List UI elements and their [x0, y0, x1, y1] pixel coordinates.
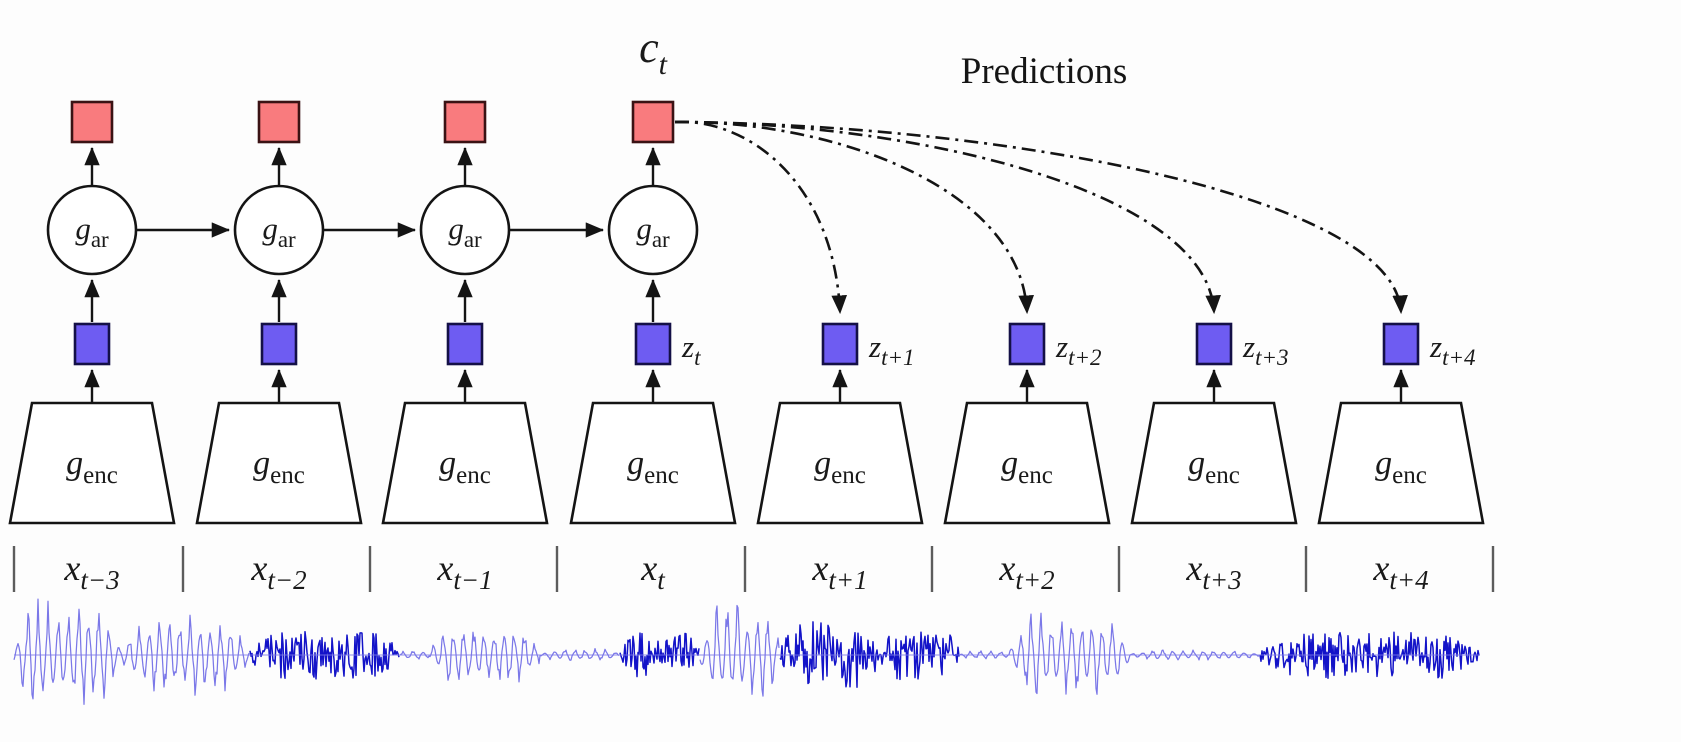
prediction-arrow-4	[675, 122, 1401, 312]
timestep-column-4: genczt+1	[758, 324, 922, 523]
encoder-label-subscript: enc	[1205, 462, 1240, 489]
ar-label-base: g	[448, 211, 464, 246]
encoder-label-base: g	[1375, 445, 1392, 482]
encoder-label-subscript: enc	[456, 462, 491, 489]
figure-canvas: gencgarxt−3gencgarxt−2gencgarxt−1gencztg…	[0, 0, 1681, 742]
timestep-column-7: genczt+4	[1319, 324, 1483, 523]
timestep-label-base: x	[436, 548, 453, 588]
context-square	[633, 102, 673, 142]
latent-label: zt+4	[1429, 329, 1476, 370]
latent-square	[75, 324, 109, 364]
timestep-label-subscript: t−2	[267, 565, 306, 595]
encoder-label-base: g	[814, 445, 831, 482]
ar-label-subscript: ar	[464, 227, 482, 252]
timestep-label-subscript: t+4	[1389, 565, 1428, 595]
timestep-column-2: gencgar	[383, 102, 547, 523]
latent-label-base: z	[868, 329, 881, 364]
timestep-column-5: genczt+2	[945, 324, 1109, 523]
context-square	[259, 102, 299, 142]
timestep-label-subscript: t	[657, 565, 666, 595]
encoder-label-base: g	[253, 445, 270, 482]
encoder-label-base: g	[627, 445, 644, 482]
prediction-arrow-2	[675, 122, 1027, 312]
timestep-column-1: gencgar	[197, 102, 361, 523]
timestep-column-0: gencgar	[10, 102, 174, 523]
waveform-light-segment	[700, 606, 779, 697]
latent-square	[1010, 324, 1044, 364]
latent-square	[823, 324, 857, 364]
latent-square	[448, 324, 482, 364]
encoder-label-subscript: enc	[1018, 462, 1053, 489]
latent-square	[636, 324, 670, 364]
context-square	[72, 102, 112, 142]
encoder-label-subscript: enc	[83, 462, 118, 489]
prediction-arrow-1	[675, 122, 840, 312]
ct-base: c	[639, 23, 659, 72]
timestep-label-base: x	[63, 548, 80, 588]
timestep-label-base: x	[1372, 548, 1389, 588]
diagram-body: gencgarxt−3gencgarxt−2gencgarxt−1gencztg…	[10, 102, 1493, 595]
ar-label-base: g	[636, 211, 652, 246]
predictions-label: Predictions	[961, 51, 1127, 92]
latent-label-base: z	[1055, 329, 1068, 364]
prediction-arrows	[675, 122, 1401, 312]
encoder-label-base: g	[1188, 445, 1205, 482]
encoder-label-subscript: enc	[644, 462, 679, 489]
encoder-label-subscript: enc	[1392, 462, 1427, 489]
cpc-architecture-diagram: gencgarxt−3gencgarxt−2gencgarxt−1gencztg…	[0, 0, 1681, 742]
context-vector-label: ct	[639, 23, 668, 81]
timestep-label: xt−2	[250, 548, 306, 595]
waveform-light-segment	[14, 599, 249, 704]
timestep-label: xt+3	[1185, 548, 1241, 595]
encoder-label-base: g	[439, 445, 456, 482]
timestep-label-subscript: t+1	[828, 565, 867, 595]
waveform-light-segment	[400, 632, 619, 682]
timestep-label-base: x	[1185, 548, 1202, 588]
latent-square	[262, 324, 296, 364]
latent-label: zt	[681, 329, 701, 370]
timestep-label-subscript: t+3	[1202, 565, 1241, 595]
timestep-label-base: x	[998, 548, 1015, 588]
timestep-label-base: x	[250, 548, 267, 588]
timestep-label-subscript: t+2	[1015, 565, 1054, 595]
ar-label-subscript: ar	[652, 227, 670, 252]
prediction-arrow-3	[675, 122, 1214, 312]
latent-label-subscript: t	[694, 345, 701, 370]
encoder-label-base: g	[66, 445, 83, 482]
latent-label-base: z	[681, 329, 694, 364]
ct-subscript: t	[659, 48, 668, 81]
latent-label-subscript: t+3	[1255, 345, 1288, 370]
waveform-light-segment	[960, 613, 1259, 694]
encoder-label-subscript: enc	[270, 462, 305, 489]
ar-label-subscript: ar	[91, 227, 109, 252]
timestep-label: xt+2	[998, 548, 1054, 595]
timestep-label-subscript: t−1	[453, 565, 492, 595]
context-square	[445, 102, 485, 142]
ar-label-base: g	[262, 211, 278, 246]
ar-label-base: g	[75, 211, 91, 246]
latent-square	[1384, 324, 1418, 364]
encoder-label-base: g	[1001, 445, 1018, 482]
latent-label: zt+2	[1055, 329, 1102, 370]
latent-label-subscript: t+4	[1442, 345, 1475, 370]
latent-square	[1197, 324, 1231, 364]
timestep-label: xt+4	[1372, 548, 1428, 595]
timestep-label: xt−3	[63, 548, 119, 595]
timestep-label-base: x	[640, 548, 657, 588]
timestep-label: xt+1	[811, 548, 867, 595]
latent-label: zt+1	[868, 329, 915, 370]
speech-waveform	[14, 599, 1480, 704]
timestep-label-subscript: t−3	[80, 565, 119, 595]
latent-label-subscript: t+2	[1068, 345, 1101, 370]
timestep-label: xt	[640, 548, 666, 595]
encoder-label-subscript: enc	[831, 462, 866, 489]
timestep-label: xt−1	[436, 548, 492, 595]
latent-label: zt+3	[1242, 329, 1289, 370]
timestep-label-base: x	[811, 548, 828, 588]
latent-label-subscript: t+1	[881, 345, 914, 370]
timestep-column-3: gencztgar	[571, 102, 735, 523]
ar-label-subscript: ar	[278, 227, 296, 252]
latent-label-base: z	[1242, 329, 1255, 364]
timestep-column-6: genczt+3	[1132, 324, 1296, 523]
latent-label-base: z	[1429, 329, 1442, 364]
